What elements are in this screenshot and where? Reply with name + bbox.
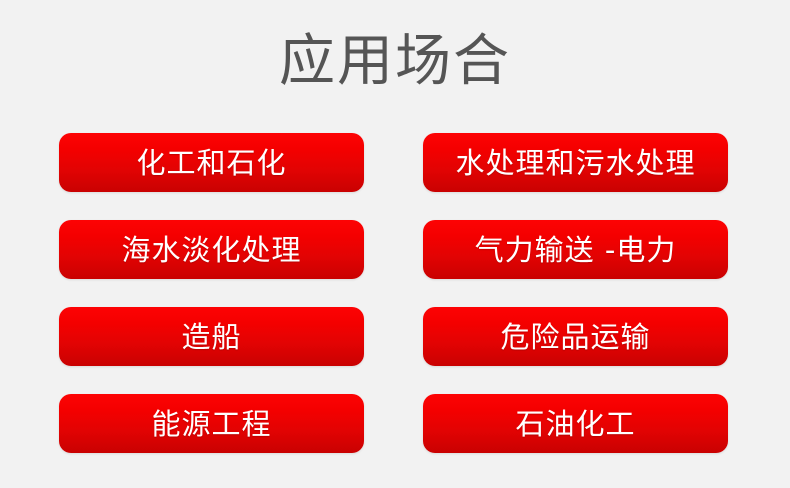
chip-label: 气力输送 -电力 <box>475 234 677 266</box>
chip-label: 能源工程 <box>151 408 271 440</box>
application-chip-petrochemical[interactable]: 石油化工 <box>423 394 728 453</box>
application-chip-grid: 化工和石化 水处理和污水处理 海水淡化处理 气力输送 -电力 造船 危险品运输 … <box>59 133 728 453</box>
application-chip-chemical-petrochemical[interactable]: 化工和石化 <box>59 133 364 192</box>
chip-label: 水处理和污水处理 <box>455 147 695 179</box>
chip-label: 化工和石化 <box>136 147 286 179</box>
chip-label: 危险品运输 <box>500 321 650 353</box>
chip-label: 海水淡化处理 <box>121 234 301 266</box>
application-chip-seawater-desalination[interactable]: 海水淡化处理 <box>59 220 364 279</box>
application-scenarios-page: 应用场合 化工和石化 水处理和污水处理 海水淡化处理 气力输送 -电力 造船 危… <box>0 0 790 488</box>
application-chip-pneumatic-conveying-power[interactable]: 气力输送 -电力 <box>423 220 728 279</box>
chip-label: 造船 <box>181 321 241 353</box>
application-chip-hazardous-goods-transport[interactable]: 危险品运输 <box>423 307 728 366</box>
chip-label: 石油化工 <box>515 408 635 440</box>
page-title: 应用场合 <box>0 26 790 98</box>
application-chip-water-wastewater-treatment[interactable]: 水处理和污水处理 <box>423 133 728 192</box>
application-chip-energy-engineering[interactable]: 能源工程 <box>59 394 364 453</box>
application-chip-shipbuilding[interactable]: 造船 <box>59 307 364 366</box>
